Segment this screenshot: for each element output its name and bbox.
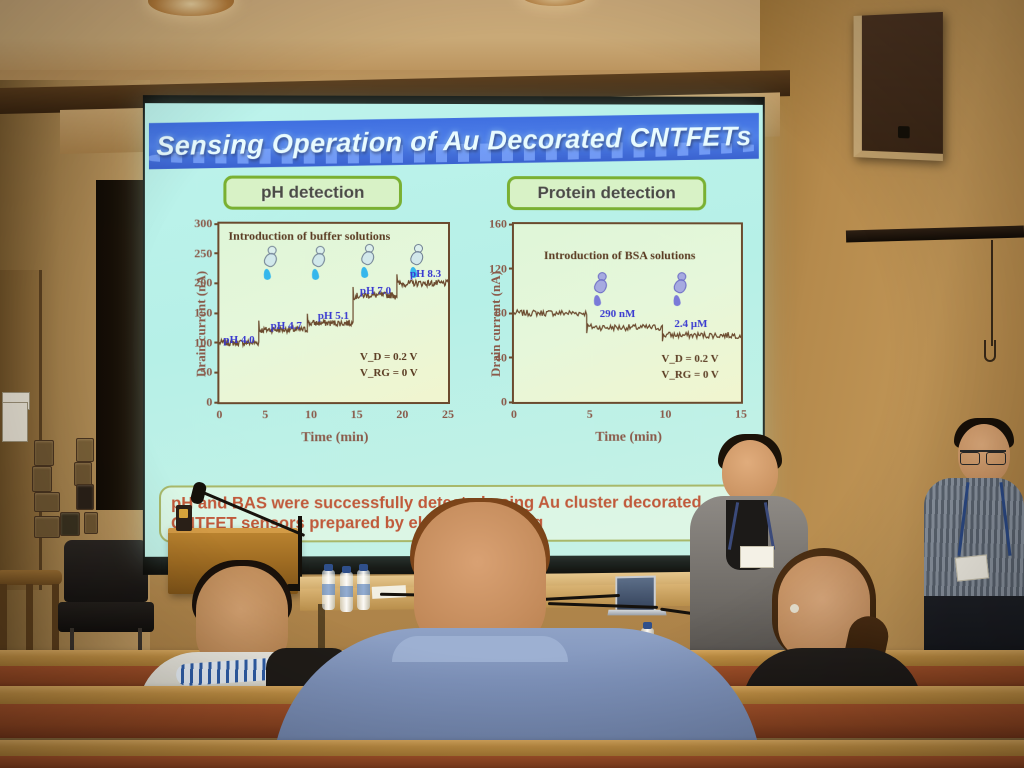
chart-ph-step-label: pH 7.0 [360, 285, 391, 297]
chart-ph-step-label: pH 5.1 [318, 310, 349, 322]
panel-heading-protein: Protein detection [507, 176, 706, 210]
glasses-icon [960, 450, 1006, 461]
slide-title-bar: Sensing Operation of Au Decorated CNTFET… [149, 113, 759, 169]
chart-ph-ytick: 300 [194, 216, 219, 231]
presentation-slide: Sensing Operation of Au Decorated CNTFET… [145, 103, 763, 557]
switch-plate-3[interactable] [32, 466, 52, 492]
slide-title: Sensing Operation of Au Decorated CNTFET… [149, 120, 759, 161]
switch-plate-9[interactable] [84, 512, 98, 534]
ceiling-downlight-secondary-icon [520, 0, 590, 6]
presenter-head [722, 440, 778, 504]
dropper-icon [310, 246, 328, 280]
dropper-icon [262, 246, 280, 280]
chart-ph-detection: Drain current (nA) 300 250 200 150 100 5… [173, 218, 452, 431]
panel-heading-ph: pH detection [223, 176, 402, 210]
switch-plate-2[interactable] [76, 438, 94, 462]
chart-protein-params: V_D = 0.2 V V_RG = 0 V [661, 352, 718, 384]
presentation-laptop-base[interactable] [607, 610, 666, 616]
switch-plate-7[interactable] [34, 516, 60, 538]
speaker-logo-icon [898, 126, 910, 138]
chart-protein-xlabel: Time (min) [512, 430, 745, 446]
switch-plate-8[interactable] [60, 512, 80, 536]
chart-ph-xlabel: Time (min) [217, 430, 452, 446]
chart-protein-step-label: 290 nM [600, 308, 636, 320]
chart-protein-plot-area: 160 120 80 40 0 0 5 10 15 Introduction o… [512, 222, 743, 404]
switch-plate-1[interactable] [34, 440, 54, 466]
switch-plate-4[interactable] [74, 462, 92, 486]
stacking-chair [58, 540, 154, 665]
chart-ph-xtick: 5 [262, 402, 268, 422]
chart-protein-xtick: 15 [735, 402, 747, 422]
chart-ph-params: V_D = 0.2 V V_RG = 0 V [360, 350, 418, 382]
chart-protein-xtick: 5 [587, 402, 593, 422]
water-bottle [322, 570, 335, 610]
chart-ph-annotation: Introduction of buffer solutions [228, 229, 390, 244]
hanging-cord [991, 240, 993, 346]
chart-ph-ytick: 150 [194, 305, 219, 320]
lecture-hall-scene: Sensing Operation of Au Decorated CNTFET… [0, 0, 1024, 768]
earring-icon [790, 604, 799, 613]
dropper-icon [592, 272, 610, 306]
lectern-control-unit[interactable] [176, 505, 192, 531]
chart-protein-vrg: V_RG = 0 V [661, 369, 718, 381]
chart-ph-plot-area: 300 250 200 150 100 50 0 0 5 10 15 20 25 [217, 222, 450, 405]
chart-ph-step-label: pH 8.3 [410, 268, 441, 280]
bench-panel-front [0, 756, 1024, 768]
water-bottle [340, 572, 353, 612]
name-badge [955, 554, 989, 581]
panel-ph-detection: pH detection Drain current (nA) 300 250 … [167, 175, 458, 430]
wall-notice [2, 402, 28, 442]
chart-ph-ytick: 250 [194, 246, 219, 261]
chart-protein-xtick: 10 [659, 402, 671, 422]
chart-ph-step-label: pH 4.0 [223, 334, 254, 346]
chart-ph-vrg: V_RG = 0 V [360, 367, 418, 379]
chart-ph-xtick: 20 [396, 402, 408, 422]
chart-protein-xtick: 0 [511, 402, 517, 422]
chart-ph-vd: V_D = 0.2 V [360, 351, 417, 363]
chart-ph-ytick: 50 [200, 365, 219, 380]
switch-plate-5[interactable] [34, 492, 60, 512]
water-bottle [357, 570, 370, 610]
chart-protein-annotation: Introduction of BSA solutions [544, 248, 696, 263]
chart-ph-ylabel: Drain current (nA) [193, 244, 209, 405]
chart-ph-xtick: 10 [305, 402, 317, 422]
bench-row-front [0, 740, 1024, 756]
chart-protein-ytick: 80 [495, 306, 514, 321]
chart-ph-xtick: 25 [442, 402, 454, 422]
chart-ph-xtick: 15 [351, 402, 363, 422]
hook-icon [984, 340, 996, 362]
stool-seat [0, 570, 62, 585]
dropper-icon [359, 244, 377, 278]
wall-speaker [854, 12, 943, 161]
switch-plate-6[interactable] [76, 484, 94, 510]
chart-ph-ytick: 200 [194, 276, 219, 291]
name-badge [740, 546, 774, 568]
chart-ph-ytick: 100 [194, 335, 219, 350]
panel-protein-detection: Protein detection Drain current (nA) 160… [462, 176, 751, 430]
shirt-collar [392, 636, 568, 662]
chart-ph-xtick: 0 [216, 402, 222, 422]
chart-protein-ytick: 120 [489, 261, 514, 276]
chart-ph-step-label: pH 4.7 [271, 320, 302, 332]
chart-protein-ytick: 40 [495, 350, 514, 365]
dropper-icon [671, 272, 689, 306]
table-leg [318, 604, 325, 652]
chart-protein-ytick: 160 [489, 217, 514, 232]
chair-back [64, 540, 148, 602]
ceiling-downlight-icon [148, 0, 234, 16]
chart-protein-detection: Drain current (nA) 160 120 80 40 0 0 5 1… [468, 218, 745, 430]
chart-protein-vd: V_D = 0.2 V [661, 353, 718, 365]
chart-protein-step-label: 2.4 µM [674, 318, 707, 330]
